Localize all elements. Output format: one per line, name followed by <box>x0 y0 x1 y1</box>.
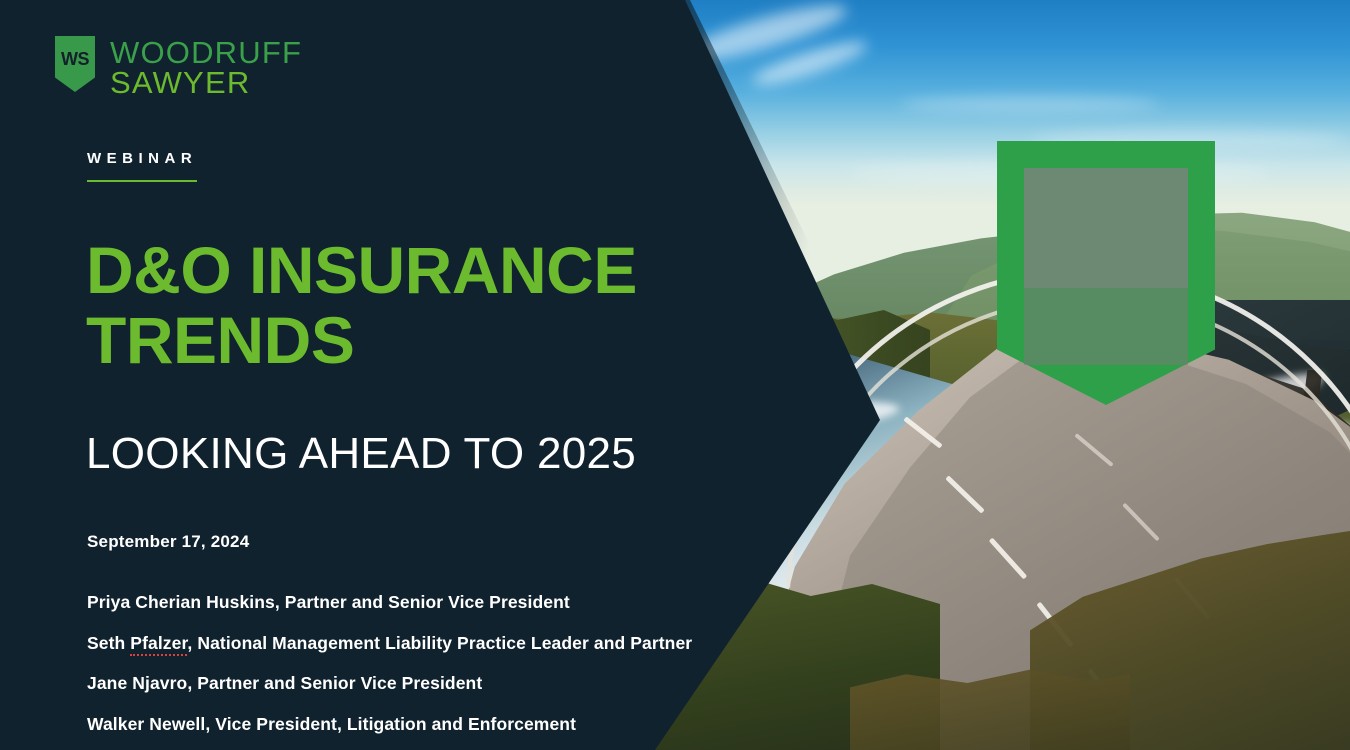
woodruff-sawyer-logo: WS WOODRUFF SAWYER <box>55 36 302 98</box>
eyebrow-text: WEBINAR <box>87 150 197 167</box>
cloud-shape <box>900 96 1160 112</box>
speaker-list: Priya Cherian Huskins, Partner and Senio… <box>87 594 747 750</box>
speaker-item: Jane Njavro, Partner and Senior Vice Pre… <box>87 675 747 693</box>
misspelled-word: Pfalzer <box>130 633 187 656</box>
page-title: D&O INSURANCE TRENDS <box>86 236 726 376</box>
page-subtitle: LOOKING AHEAD TO 2025 <box>86 430 746 478</box>
title-line-2: TRENDS <box>86 306 726 376</box>
webinar-date: September 17, 2024 <box>87 532 249 552</box>
eyebrow-underline <box>87 180 197 182</box>
logo-mark-text: WS <box>61 36 89 68</box>
speaker-name-prefix: Seth <box>87 633 130 653</box>
logo-line-1: WOODRUFF <box>110 38 302 68</box>
logo-wordmark: WOODRUFF SAWYER <box>110 36 302 98</box>
slide-content: WS WOODRUFF SAWYER WEBINAR D&O INSURANCE… <box>0 0 760 750</box>
shield-window-tint <box>1024 168 1188 288</box>
logo-line-2: SAWYER <box>110 68 302 98</box>
eyebrow-label: WEBINAR <box>87 150 197 182</box>
title-line-1: D&O INSURANCE <box>86 236 726 306</box>
speaker-item: Walker Newell, Vice President, Litigatio… <box>87 716 747 734</box>
speaker-item: Priya Cherian Huskins, Partner and Senio… <box>87 594 747 612</box>
shield-logo-icon: WS <box>55 36 95 92</box>
speaker-item: Seth Pfalzer, National Management Liabil… <box>87 635 747 653</box>
shield-outline-graphic <box>997 141 1215 405</box>
presentation-slide: WS WOODRUFF SAWYER WEBINAR D&O INSURANCE… <box>0 0 1350 750</box>
speaker-title-suffix: , National Management Liability Practice… <box>187 633 692 653</box>
